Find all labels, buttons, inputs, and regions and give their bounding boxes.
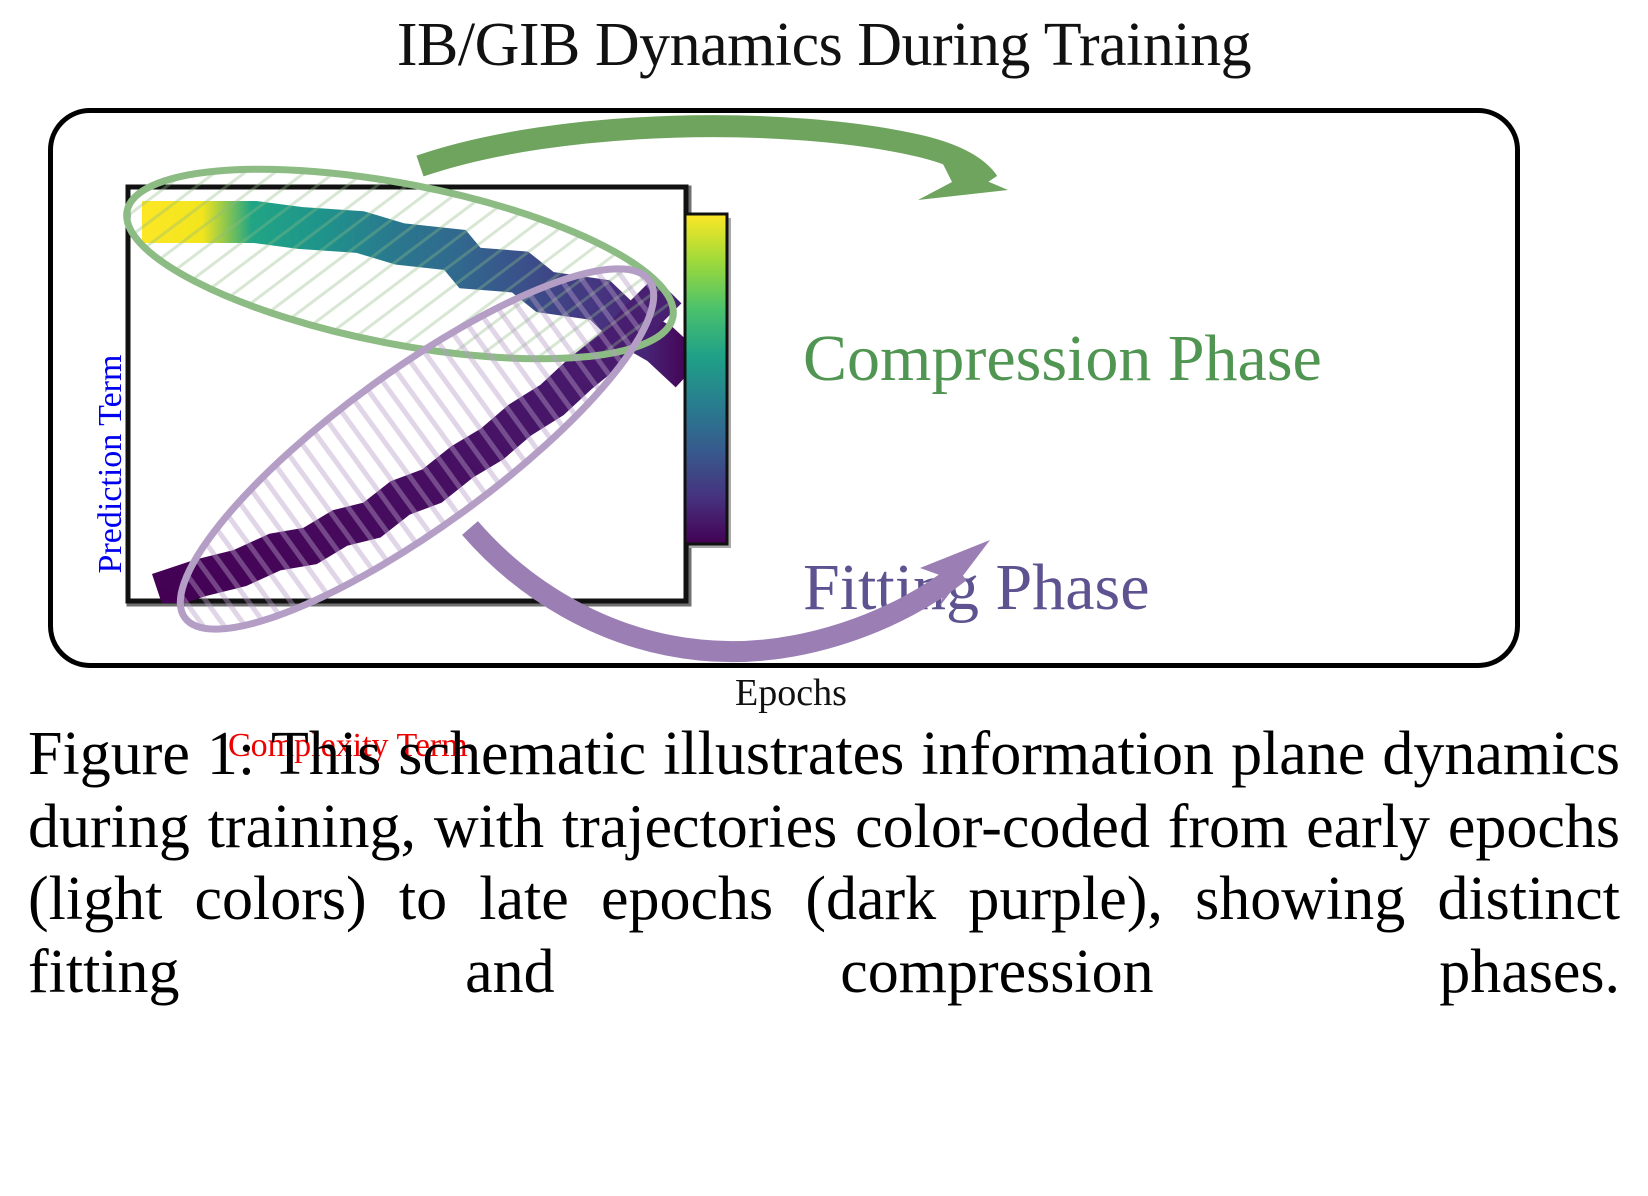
fitting-phase-label: Fitting Phase: [803, 550, 1150, 626]
schematic-panel: Prediction Term Complexity Term Epochs C…: [48, 108, 1520, 668]
figure-title: IB/GIB Dynamics During Training: [0, 14, 1648, 76]
figure-caption: Figure 1: This schematic illustrates inf…: [28, 718, 1620, 1081]
compression-phase-label: Compression Phase: [803, 321, 1322, 397]
colorbar-label: Epochs: [735, 671, 847, 715]
y-axis-label: Prediction Term: [92, 334, 130, 594]
